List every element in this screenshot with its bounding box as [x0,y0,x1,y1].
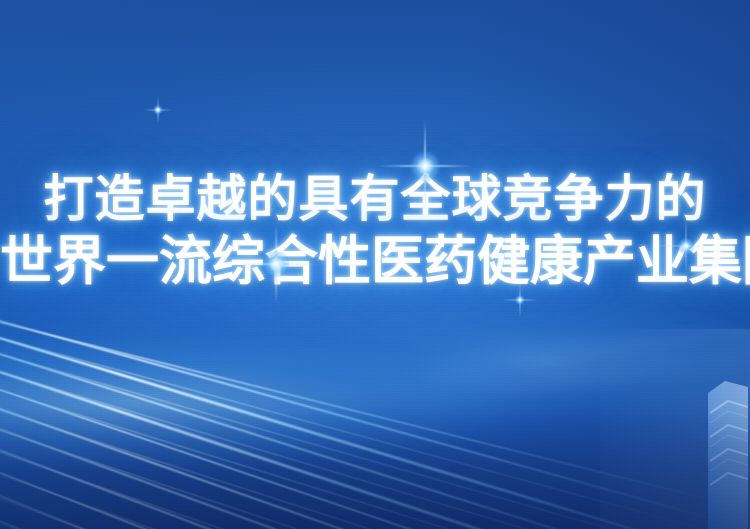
slogan-banner: 打造卓越的具有全球竞争力的 世界一流综合性医药健康产业集团 [0,0,750,529]
background-horizontal-shade [0,0,750,529]
